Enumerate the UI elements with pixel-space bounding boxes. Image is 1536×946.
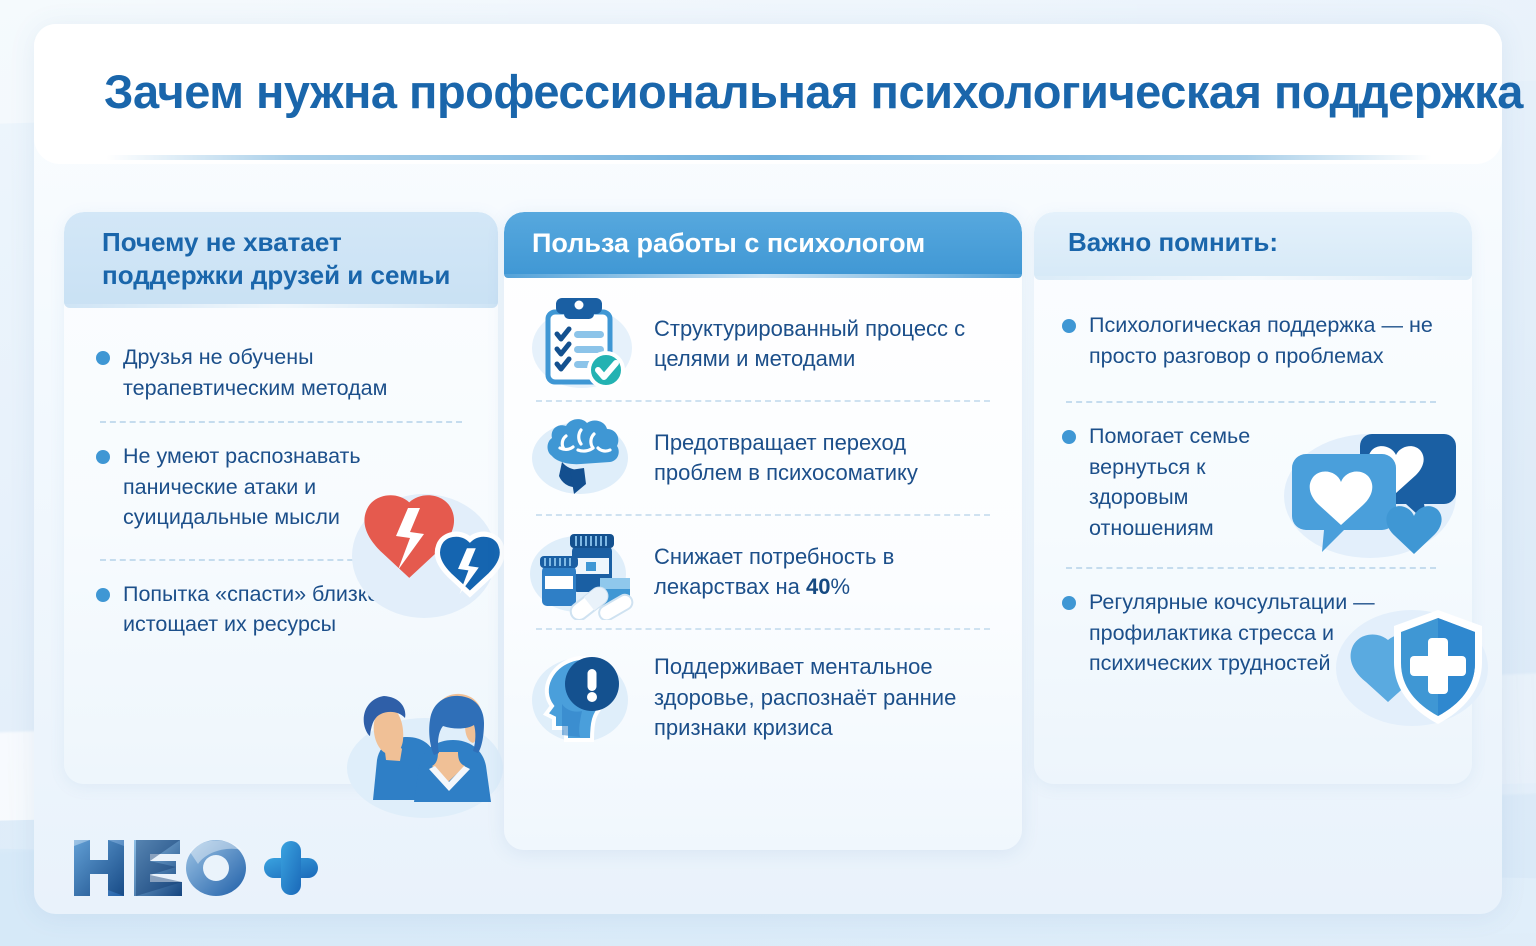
bullet-dot-icon — [96, 450, 110, 464]
right-bullet-list: Психологическая поддержка — не просто ра… — [1034, 280, 1472, 679]
left-header-line-2: поддержки друзей и семьи — [102, 259, 472, 292]
middle-column-header: Польза работы с психологом — [504, 212, 1022, 278]
header-shine — [504, 274, 1022, 278]
list-item-label: Друзья не обучены терапевтическим метода… — [123, 342, 468, 403]
list-item: Снижает потребность в лекарствах на 40% — [526, 524, 1000, 620]
divider — [536, 514, 990, 516]
title-card: Зачем нужна профессиональная психологиче… — [34, 24, 1502, 164]
title-underline — [106, 155, 1432, 160]
divider — [536, 628, 990, 630]
divider — [1066, 401, 1436, 403]
list-item: Поддерживает ментальное здоровье, распоз… — [526, 638, 1000, 758]
bullet-dot-icon — [96, 588, 110, 602]
head-alert-icon — [526, 642, 638, 754]
medication-bottles-icon — [526, 524, 638, 620]
divider — [1066, 567, 1436, 569]
column-important-to-remember: Важно помнить: Психологическая поддержка… — [1034, 212, 1472, 784]
column-why-friends-not-enough: Почему не хватает поддержки друзей и сем… — [64, 212, 498, 784]
divider — [536, 400, 990, 402]
benefit-text-before: Снижает потребность в лекарствах на — [654, 544, 894, 599]
column-benefits: Польза работы с психологом — [504, 212, 1022, 850]
benefit-text-after: % — [831, 574, 851, 599]
divider — [100, 421, 462, 423]
infographic-canvas: Зачем нужна профессиональная психологиче… — [0, 0, 1536, 946]
list-item: Предотвращает переход проблем в психосом… — [526, 410, 1000, 506]
left-header-line-1: Почему не хватает — [102, 226, 472, 259]
list-item-label: Психологическая поддержка — не просто ра… — [1089, 310, 1439, 371]
list-item-label: Регулярные кочсультации — профилактика с… — [1089, 587, 1389, 679]
header-shine — [64, 304, 498, 308]
page-title: Зачем нужна профессиональная психологиче… — [104, 66, 1434, 118]
brand-logo — [68, 832, 318, 906]
bullet-dot-icon — [96, 351, 110, 365]
list-item-label: Снижает потребность в лекарствах на 40% — [654, 542, 954, 603]
clipboard-checklist-icon — [526, 296, 638, 392]
left-column-header: Почему не хватает поддержки друзей и сем… — [64, 212, 498, 308]
bullet-dot-icon — [1062, 430, 1076, 444]
left-bullet-list: Друзья не обучены терапевтическим метода… — [64, 308, 498, 640]
benefit-highlight-value: 40 — [806, 574, 830, 599]
right-column-header: Важно помнить: — [1034, 212, 1472, 280]
list-item: Помогает семье вернуться к здоровым отно… — [1062, 421, 1442, 543]
list-item-label: Помогает семье вернуться к здоровым отно… — [1089, 421, 1285, 543]
list-item-label: Предотвращает переход проблем в психосом… — [654, 428, 974, 489]
list-item-label: Структурированный процесс с целями и мет… — [654, 314, 984, 375]
header-shine — [1034, 276, 1472, 280]
list-item: Психологическая поддержка — не просто ра… — [1062, 310, 1442, 371]
list-item-label: Попытка «спасти» близкого истощает их ре… — [123, 579, 468, 640]
bullet-dot-icon — [1062, 319, 1076, 333]
brain-icon — [526, 410, 638, 506]
list-item: Структурированный процесс с целями и мет… — [526, 296, 1000, 392]
list-item: Попытка «спасти» близкого истощает их ре… — [96, 579, 468, 640]
benefits-list: Структурированный процесс с целями и мет… — [504, 278, 1022, 758]
list-item: Регулярные кочсультации — профилактика с… — [1062, 587, 1442, 679]
list-item-label: Поддерживает ментальное здоровье, распоз… — [654, 652, 964, 743]
bullet-dot-icon — [1062, 596, 1076, 610]
list-item: Друзья не обучены терапевтическим метода… — [96, 342, 468, 403]
list-item: Не умеют распознавать панические атаки и… — [96, 441, 468, 533]
divider — [100, 559, 462, 561]
list-item-label: Не умеют распознавать панические атаки и… — [123, 441, 375, 533]
